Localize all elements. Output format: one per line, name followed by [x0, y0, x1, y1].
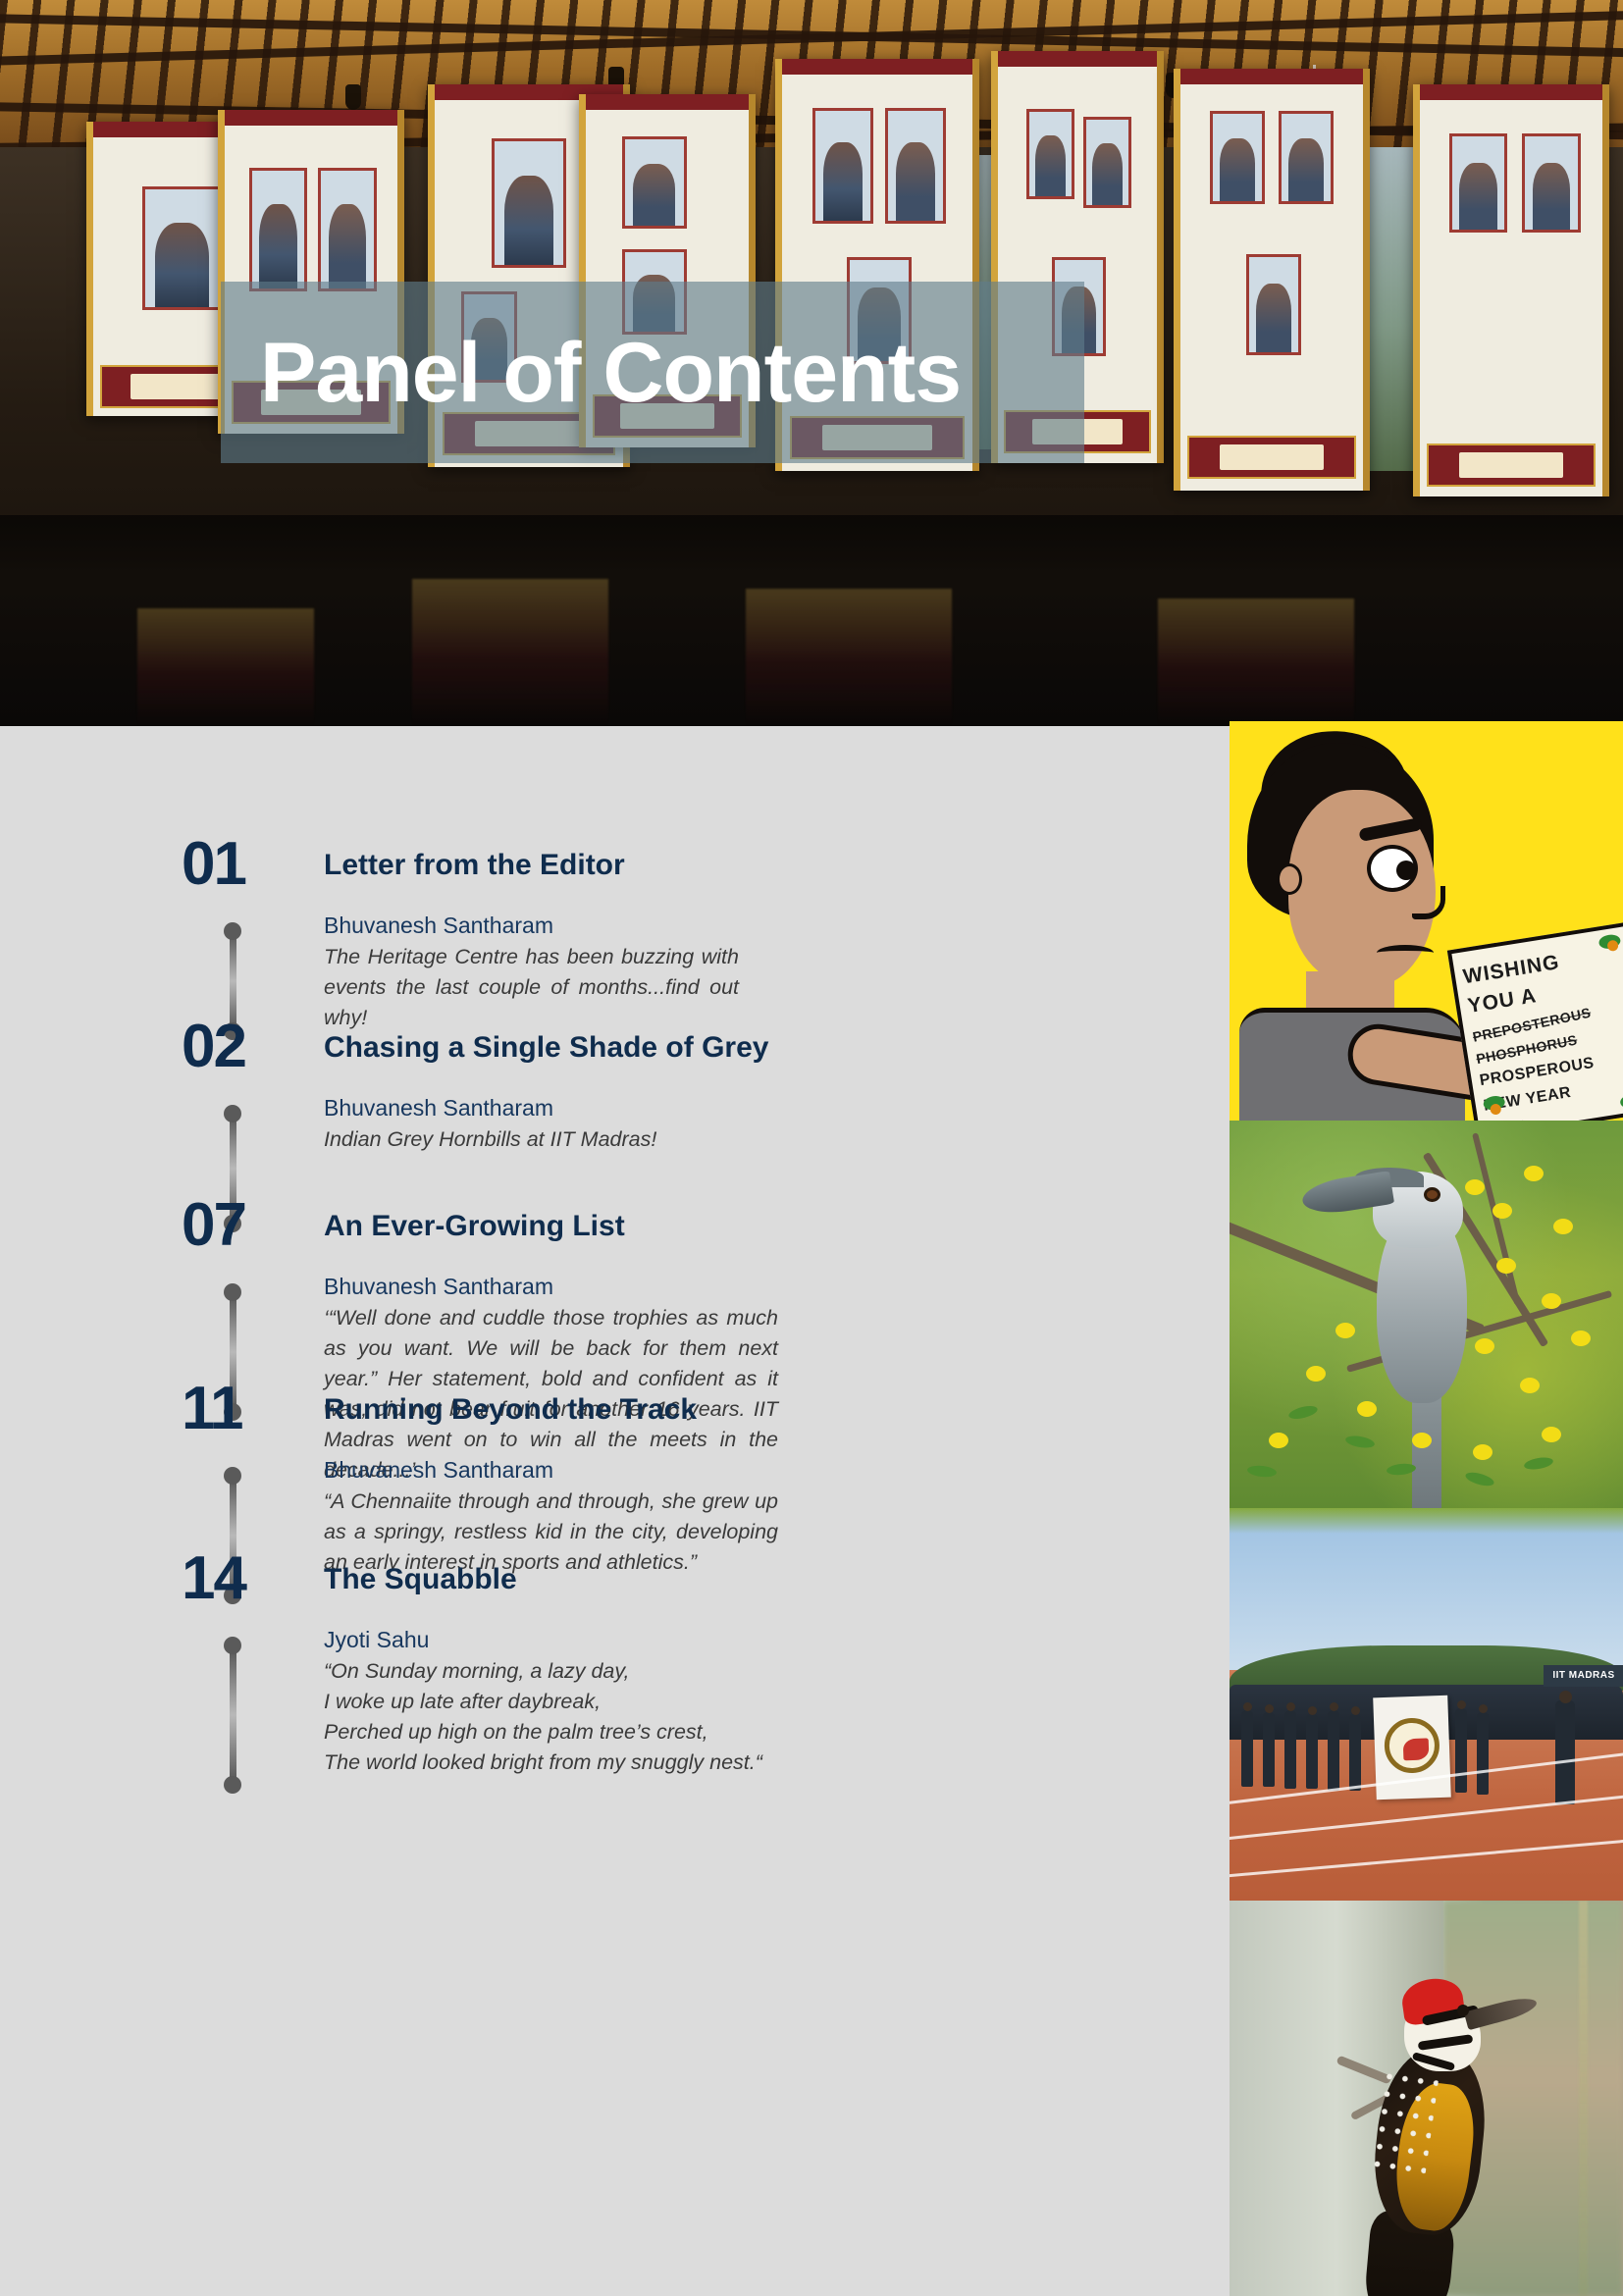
black-rumped-flameback-photo — [1230, 1901, 1623, 2296]
entry-blurb: Indian Grey Hornbills at IIT Madras! — [324, 1124, 739, 1155]
image-gallery: WISHING YOU A PREPOSTEROUS PHOSPHORUS PR… — [1230, 721, 1623, 2296]
entry-number: 14 — [182, 1548, 289, 1609]
entry-number: 02 — [182, 1017, 289, 1077]
athletics-track-photo: IIT MADRAS — [1230, 1508, 1623, 1901]
entry-title[interactable]: Letter from the Editor — [324, 848, 1171, 883]
exhibit-panel — [1413, 84, 1609, 496]
indian-grey-hornbill-photo — [1230, 1121, 1623, 1508]
entry-author: Jyoti Sahu — [324, 1625, 1171, 1654]
iit-madras-banner: IIT MADRAS — [1544, 1665, 1623, 1687]
exhibit-panel — [1174, 69, 1370, 491]
card-line: WISHING — [1461, 951, 1561, 989]
page-title: Panel of Contents — [260, 309, 1065, 437]
contents-list: 01 Letter from the Editor Bhuvanesh Sant… — [0, 726, 1230, 2296]
entry-title[interactable]: An Ever-Growing List — [324, 1209, 1171, 1244]
entry-author: Bhuvanesh Santharam — [324, 1093, 1171, 1122]
entry-author: Bhuvanesh Santharam — [324, 1455, 1171, 1485]
new-year-card: WISHING YOU A PREPOSTEROUS PHOSPHORUS PR… — [1447, 922, 1623, 1121]
hero-banner: Panel of Contents — [0, 0, 1623, 726]
entry-title[interactable]: Running Beyond the Track — [324, 1392, 1171, 1428]
entry-number: 01 — [182, 834, 289, 895]
card-line: YOU A — [1466, 984, 1539, 1018]
entry-author: Bhuvanesh Santharam — [324, 911, 1171, 940]
entry-title[interactable]: The Squabble — [324, 1562, 1171, 1597]
entry-blurb: “On Sunday morning, a lazy day, I woke u… — [324, 1656, 798, 1778]
entry-title[interactable]: Chasing a Single Shade of Grey — [324, 1030, 1171, 1066]
entry-number: 07 — [182, 1195, 289, 1256]
entry-number: 11 — [182, 1379, 289, 1439]
contents-entry[interactable]: 14 The Squabble Jyoti Sahu “On Sunday mo… — [0, 1548, 1230, 1823]
new-year-cartoon: WISHING YOU A PREPOSTEROUS PHOSPHORUS PR… — [1230, 721, 1623, 1121]
entry-author: Bhuvanesh Santharam — [324, 1272, 1171, 1301]
contents-page: Panel of Contents 01 Letter from the Edi… — [0, 0, 1623, 2296]
timeline-connector — [224, 1637, 241, 1794]
